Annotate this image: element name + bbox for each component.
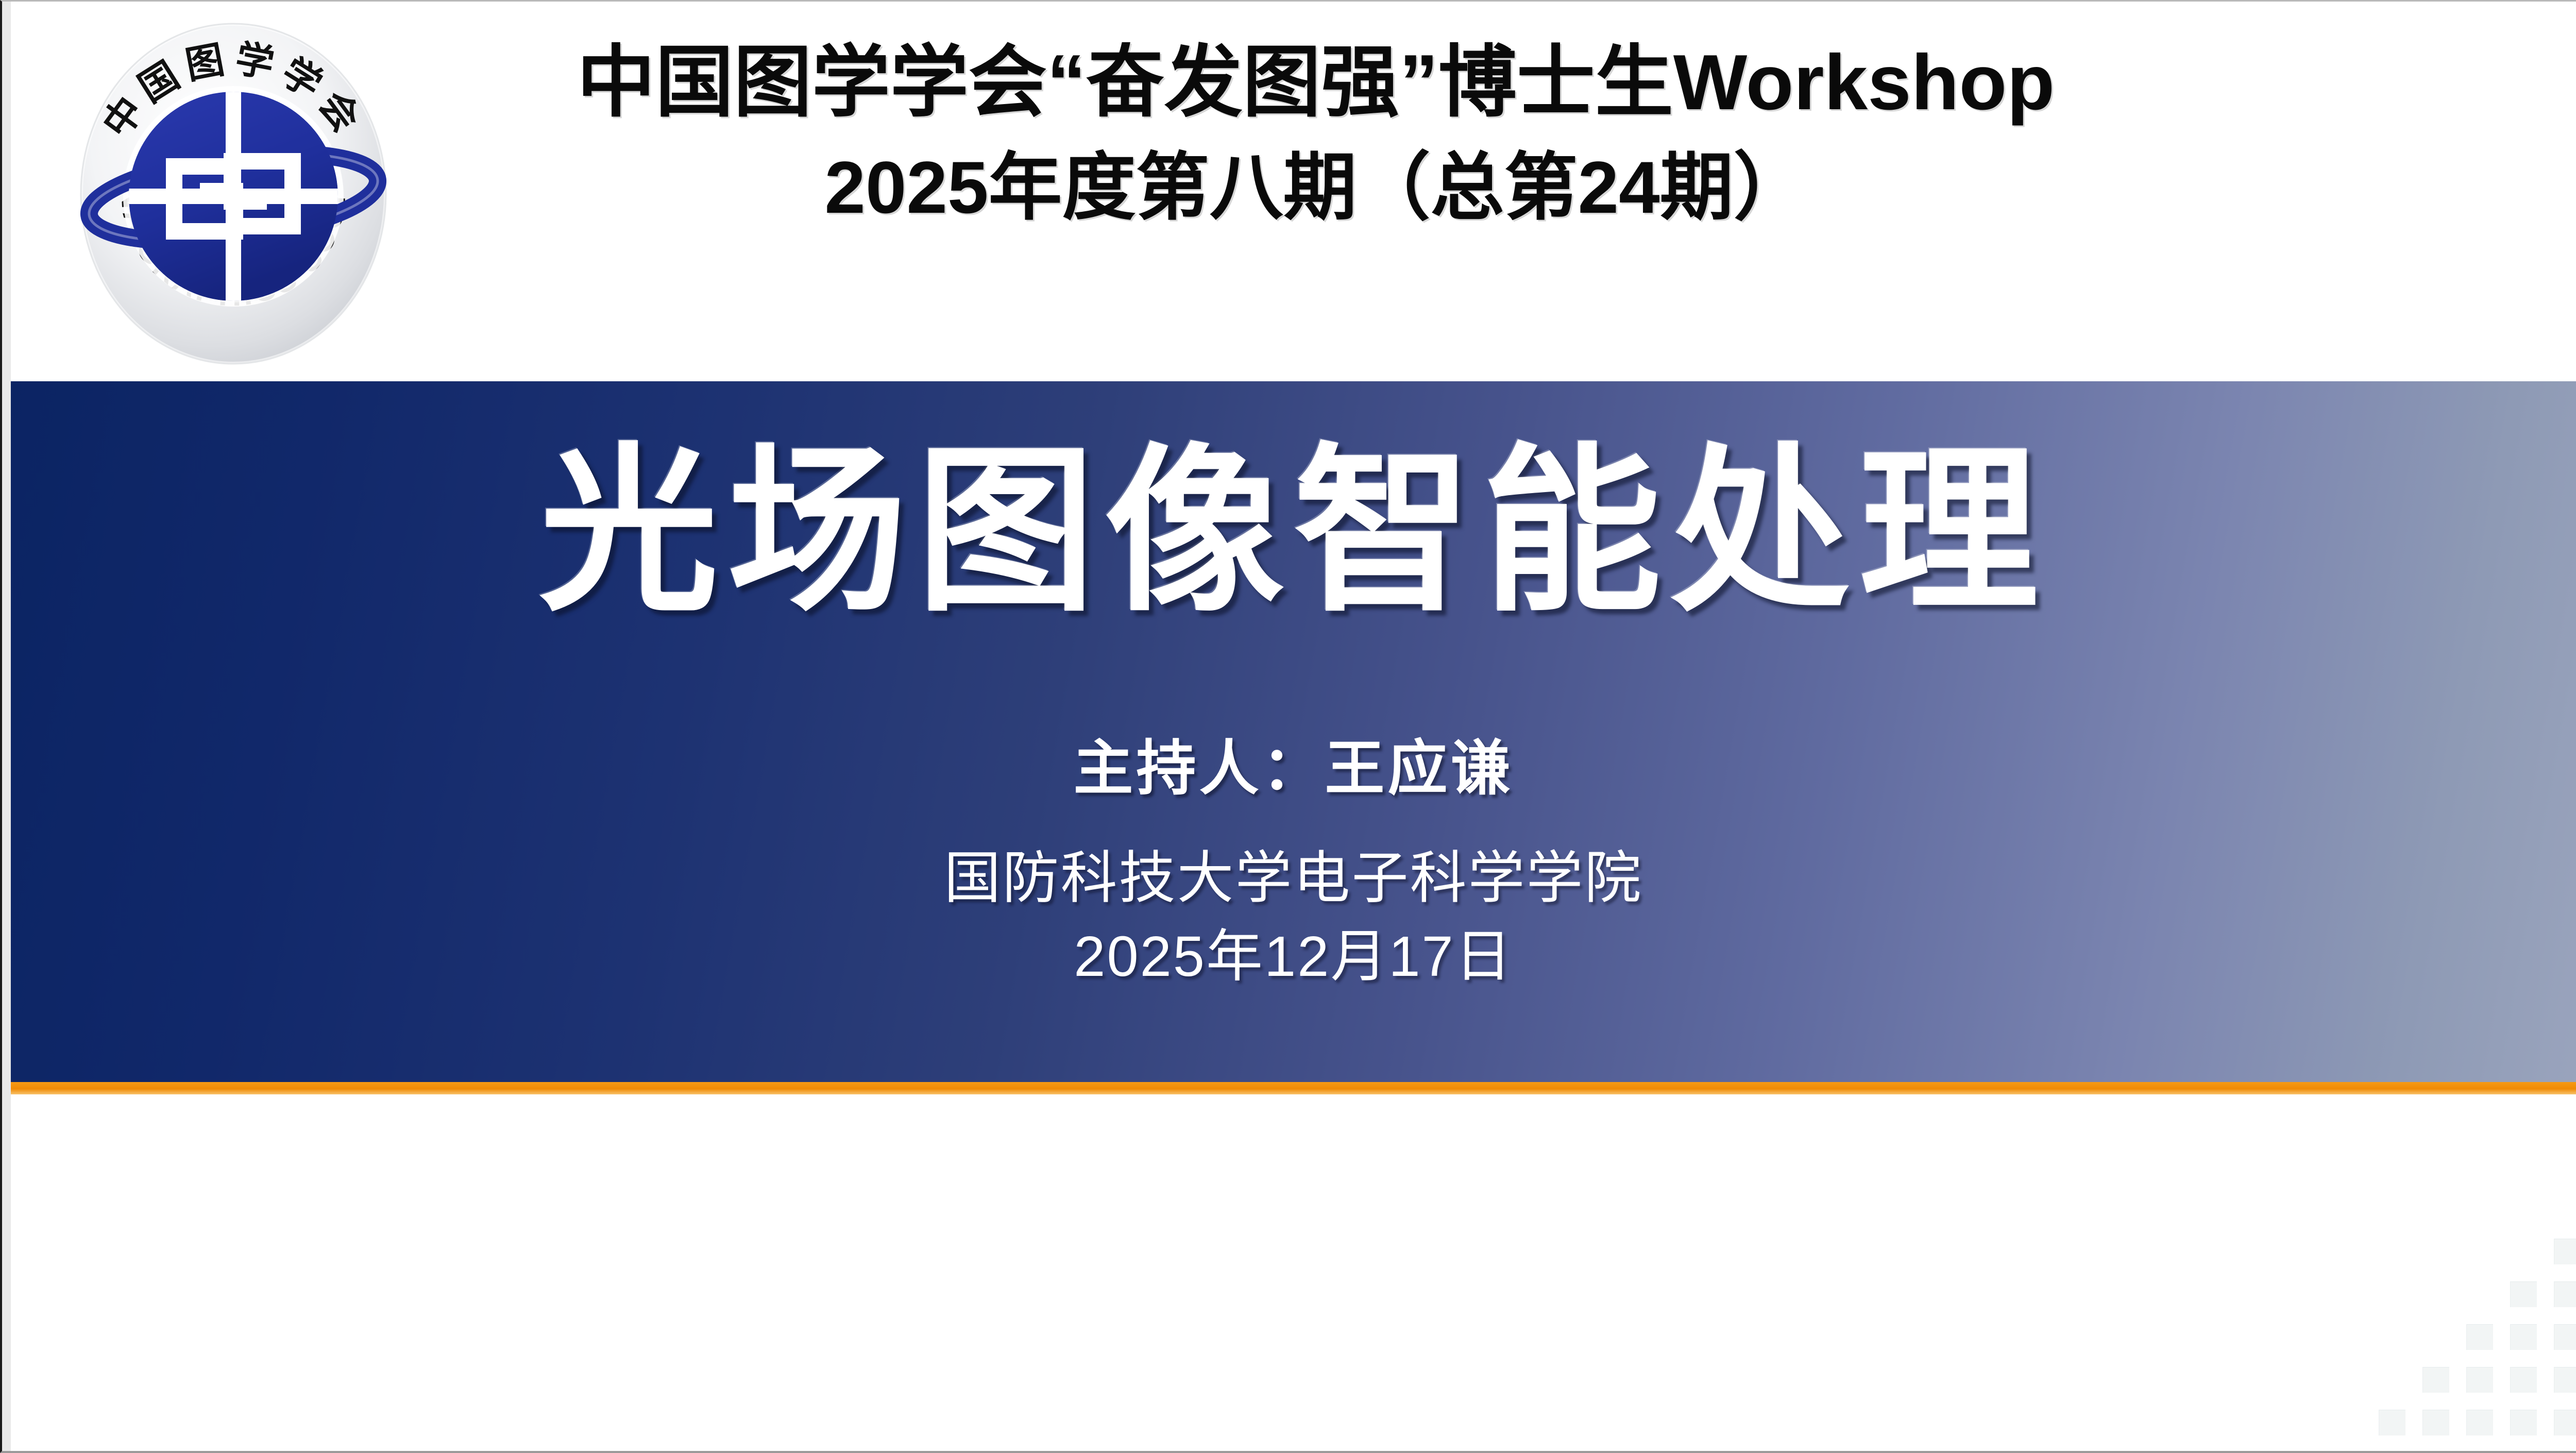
slide-left-gutter	[2, 2, 11, 1451]
staircase-row	[2349, 1410, 2576, 1435]
staircase-square	[2466, 1410, 2493, 1435]
slide-footer	[2, 1094, 2576, 1451]
staircase-row	[2349, 1367, 2576, 1393]
staircase-square	[2510, 1324, 2537, 1350]
workshop-session-number: 2025年度第八期（总第24期）	[414, 140, 2217, 236]
staircase-square	[2466, 1367, 2493, 1393]
staircase-row	[2349, 1324, 2576, 1350]
staircase-row	[2349, 1239, 2576, 1264]
staircase-square	[2554, 1367, 2576, 1393]
staircase-square	[2554, 1239, 2576, 1264]
staircase-square	[2379, 1410, 2405, 1435]
staircase-square	[2510, 1281, 2537, 1307]
staircase-square	[2554, 1324, 2576, 1350]
host-name: 主持人：王应谦	[2, 738, 2576, 798]
presentation-date: 2025年12月17日	[2, 928, 2576, 985]
presentation-title: 光场图像智能处理	[2, 442, 2576, 621]
slide-header: 中国图学学会 CHINA GRAPHICS SOCIETY	[2, 2, 2576, 381]
staircase-square	[2510, 1367, 2537, 1393]
presentation-title-slide: 中国图学学会 CHINA GRAPHICS SOCIETY	[0, 0, 2576, 1453]
staircase-square	[2422, 1410, 2449, 1435]
orange-accent-rule	[2, 1082, 2576, 1094]
workshop-series-title: 中国图学学会“奋发图强”博士生Workshop	[414, 32, 2217, 133]
affiliation: 国防科技大学电子科学学院	[2, 850, 2576, 907]
staircase-square	[2466, 1324, 2493, 1350]
staircase-square	[2554, 1410, 2576, 1435]
china-graphics-society-emblem-icon: 中国图学学会 CHINA GRAPHICS SOCIETY	[56, 16, 411, 371]
staircase-square	[2422, 1367, 2449, 1393]
title-banner: 光场图像智能处理 主持人：王应谦 国防科技大学电子科学学院 2025年12月17…	[2, 381, 2576, 1082]
staircase-square	[2510, 1410, 2537, 1435]
header-title-block: 中国图学学会“奋发图强”博士生Workshop 2025年度第八期（总第24期）	[414, 32, 2217, 235]
staircase-squares-decoration	[2349, 1239, 2576, 1435]
staircase-row	[2349, 1281, 2576, 1307]
staircase-square	[2554, 1281, 2576, 1307]
